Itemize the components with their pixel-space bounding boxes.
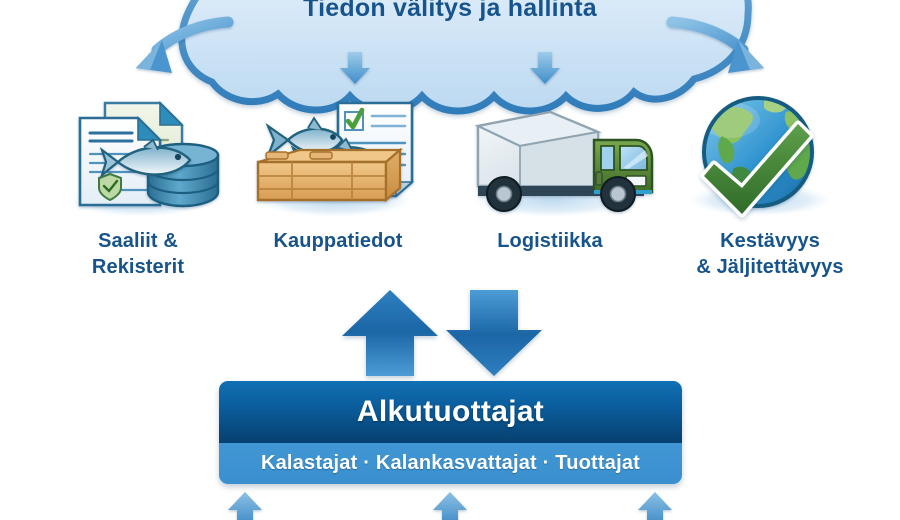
arrow-up-small-icon <box>228 492 262 520</box>
pillar-label-line1: Logistiikka <box>450 228 650 254</box>
pillar-label-line1: Kauppatiedot <box>233 228 443 254</box>
delivery-truck-icon <box>472 112 652 217</box>
arrow-down-icon[interactable] <box>446 290 542 376</box>
pillar-label-line2: & Jäljitettävyys <box>650 254 890 280</box>
cloud-icon <box>182 0 748 111</box>
globe-checkmark-icon <box>688 98 832 216</box>
producers-subtitle-band: Kalastajat · Kalankasvattajat · Tuottaja… <box>219 443 682 484</box>
producers-title-band: Alkutuottajat <box>219 381 682 443</box>
pillar-label-line1: Saaliit & <box>38 228 238 254</box>
arrow-up-small-icon <box>638 492 672 520</box>
pillar-label-logistiikka: Logistiikka <box>450 228 650 254</box>
arrow-up-small-icon <box>433 492 467 520</box>
pillar-label-saaliit-rekisterit: Saaliit & Rekisterit <box>38 228 238 281</box>
pillar-label-line2: Rekisterit <box>38 254 238 280</box>
documents-fish-database-icon <box>68 103 218 217</box>
producers-subtitle: Kalastajat · Kalankasvattajat · Tuottaja… <box>261 452 640 475</box>
producers-title: Alkutuottajat <box>357 395 544 429</box>
fish-crate-checklist-icon <box>257 103 413 217</box>
pillar-label-kestavyys-jaljitettavyys: Kestävyys & Jäljitettävyys <box>650 228 890 281</box>
pillar-label-kauppatiedot: Kauppatiedot <box>233 228 443 254</box>
pillar-label-line1: Kestävyys <box>650 228 890 254</box>
arrow-up-icon[interactable] <box>342 290 438 376</box>
producers-box: Alkutuottajat Kalastajat · Kalankasvatta… <box>219 381 682 484</box>
infographic-canvas: Tiedon välitys ja hallinta Saaliit & Rek… <box>0 0 900 520</box>
